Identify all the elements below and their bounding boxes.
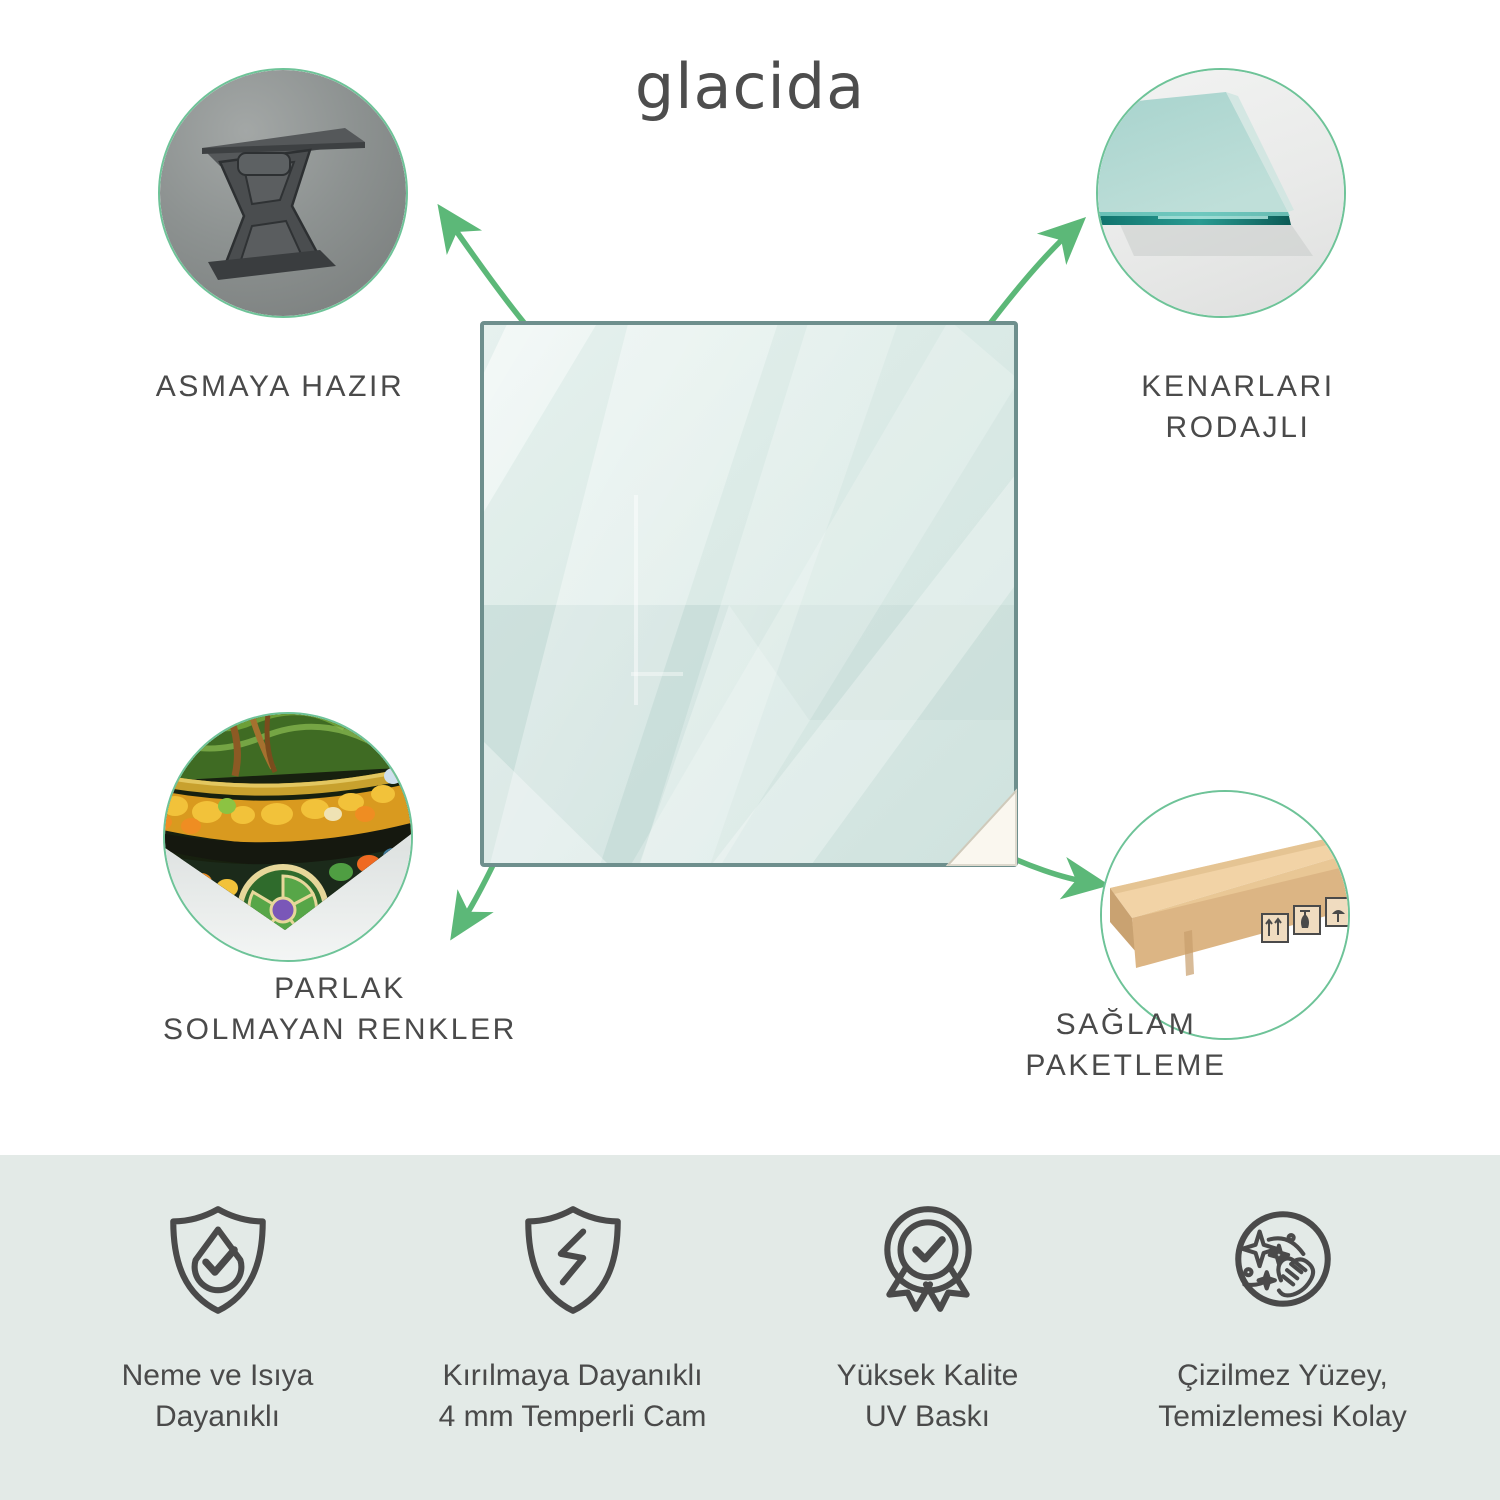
carton-box-icon	[1102, 792, 1348, 1038]
benefit-moisture-heat: Neme ve Isıya Dayanıklı	[40, 1201, 395, 1438]
shield-water-drop-check-icon	[157, 1201, 279, 1319]
feature-label-hanging: ASMAYA HAZIR	[80, 366, 480, 407]
shield-bolt-icon	[512, 1201, 634, 1319]
feature-circle-hanging	[158, 68, 408, 318]
sparkle-wipe-hand-icon	[1222, 1201, 1344, 1319]
arrow-to-edges	[985, 232, 1070, 330]
benefits-band: Neme ve Isıya Dayanıklı Kırılmaya Dayanı…	[0, 1155, 1500, 1500]
benefit-break-resistant: Kırılmaya Dayanıklı 4 mm Temperli Cam	[395, 1201, 750, 1438]
feature-label-packaging: SAĞLAM PAKETLEME	[936, 1004, 1316, 1087]
wall-mount-bracket-icon	[160, 70, 406, 316]
polished-glass-edge-icon	[1098, 70, 1344, 316]
stained-glass-artwork-icon	[165, 714, 411, 960]
benefit-text-break-resistant: Kırılmaya Dayanıklı 4 mm Temperli Cam	[439, 1355, 707, 1438]
feature-circle-colors	[163, 712, 413, 962]
arrow-to-hanging	[450, 222, 530, 330]
tempered-glass-panel	[479, 320, 1019, 868]
feature-label-colors: PARLAK SOLMAYAN RENKLER	[90, 968, 590, 1051]
feature-label-edges: KENARLARI RODAJLI	[1038, 366, 1438, 449]
benefit-text-scratch-free: Çizilmez Yüzey, Temizlemesi Kolay	[1158, 1355, 1406, 1438]
feature-circle-edges	[1096, 68, 1346, 318]
benefit-scratch-free: Çizilmez Yüzey, Temizlemesi Kolay	[1105, 1201, 1460, 1438]
benefit-text-uv-print: Yüksek Kalite UV Baskı	[837, 1355, 1019, 1438]
award-badge-check-icon	[867, 1201, 989, 1319]
benefit-text-moisture-heat: Neme ve Isıya Dayanıklı	[122, 1355, 314, 1438]
benefit-uv-print: Yüksek Kalite UV Baskı	[750, 1201, 1105, 1438]
feature-circle-packaging	[1100, 790, 1350, 1040]
infographic-page: glacida	[0, 0, 1500, 1500]
